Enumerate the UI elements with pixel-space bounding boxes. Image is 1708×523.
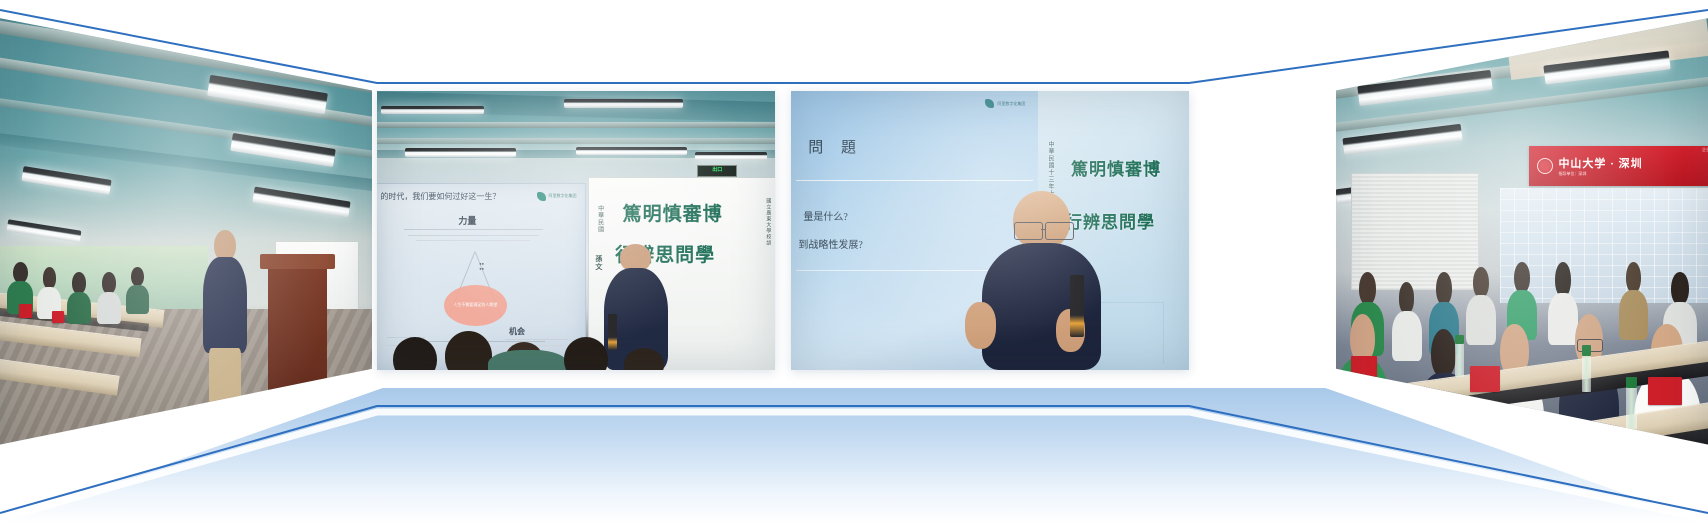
- slide-logo: 阿里数字化集团: [985, 99, 1025, 108]
- water-bottle: [1455, 335, 1464, 377]
- audience-person: [67, 272, 91, 324]
- banner-subtitle: 指导单位：深圳: [1558, 171, 1642, 177]
- slide-keyword-power: 力量: [458, 214, 476, 227]
- slide-logo-text: 阿里数字化集团: [549, 194, 577, 199]
- slide-keyword-opportunity: 机会: [509, 326, 525, 337]
- exit-sign-text: 出口: [712, 168, 722, 173]
- name-tent: [52, 311, 64, 324]
- audience-person: [97, 272, 121, 324]
- ceiling-pipe: [377, 138, 775, 144]
- slide-logo: 阿里数字化集团: [537, 192, 577, 201]
- name-tent: [19, 304, 32, 318]
- ceiling-light: [22, 166, 112, 194]
- slide-question-1: 量是什么?: [803, 208, 847, 223]
- slide-question-2: 到战略性发展?: [798, 236, 862, 251]
- microphone: [1070, 275, 1084, 336]
- foreground-shoulder: [488, 350, 568, 370]
- gallery-item-speaker-portrait[interactable]: 阿里数字化集团 問 題 量是什么? 到战略性发展? 篤明慎審博 行辨思問學 中華…: [791, 91, 1189, 370]
- university-seal-icon: [1537, 158, 1553, 174]
- banner-top-text: 企业家培: [1702, 147, 1708, 153]
- calligraphy-line-1: 篤明慎審博: [1071, 161, 1161, 179]
- calligraphy-line-1: 篤明慎審博: [623, 205, 723, 225]
- podium-top: [260, 254, 334, 270]
- banner-title: 中山大学 · 深圳: [1558, 155, 1642, 171]
- standing-speaker: [201, 230, 249, 471]
- panel-left-caption: Speaker standing beside wooden podium in…: [0, 0, 1, 1]
- ceiling-light: [252, 186, 350, 217]
- podium: [268, 262, 328, 435]
- calligraphy-signature: 孫文: [595, 255, 602, 271]
- slide-title: 問 題: [808, 136, 863, 157]
- slide-title: 的时代，我们要如何过好这一生？: [380, 191, 500, 202]
- water-bottle: [1626, 377, 1637, 429]
- speaker-hand: [965, 302, 996, 348]
- microphone: [608, 314, 618, 350]
- brand-logo-icon: [537, 192, 546, 201]
- water-bottle: [1582, 345, 1592, 392]
- name-tent: [1351, 356, 1377, 380]
- name-tent: [1648, 377, 1681, 405]
- event-banner: 中山大学 · 深圳 指导单位：深圳 企业家培: [1529, 146, 1708, 186]
- exit-sign-icon: 出口: [697, 165, 737, 177]
- panel-right-caption: Audience seated at long desks with red n…: [1336, 0, 1337, 1]
- slide-logo-text: 阿里数字化集团: [997, 102, 1025, 107]
- ceiling-light: [405, 148, 516, 156]
- slide-circle-label: 人生不需要满足别人期望: [444, 285, 507, 326]
- name-tent: [1470, 366, 1500, 392]
- ceiling-light: [564, 99, 683, 107]
- ceiling-light: [576, 147, 687, 155]
- ceiling-light: [695, 152, 767, 159]
- calligraphy-side-text: 中華民國: [596, 205, 602, 233]
- calligraphy-caption: 國立廣東大學校訓: [765, 198, 770, 246]
- audience-person: [126, 267, 148, 314]
- gallery-center-strip: 出口 阿里数字化集团 的时代，我们要如何过好这一生？ 力量 人生不需要满足别人期…: [377, 91, 1189, 370]
- ceiling-pipe: [377, 122, 775, 129]
- ceiling-light: [7, 219, 82, 242]
- ceiling-light: [381, 106, 484, 114]
- photo-gallery-stage: Speaker standing beside wooden podium in…: [0, 0, 1708, 523]
- gallery-item-lecture-slide[interactable]: 出口 阿里数字化集团 的时代，我们要如何过好这一生？ 力量 人生不需要满足别人期…: [377, 91, 775, 370]
- brand-logo-icon: [985, 99, 994, 108]
